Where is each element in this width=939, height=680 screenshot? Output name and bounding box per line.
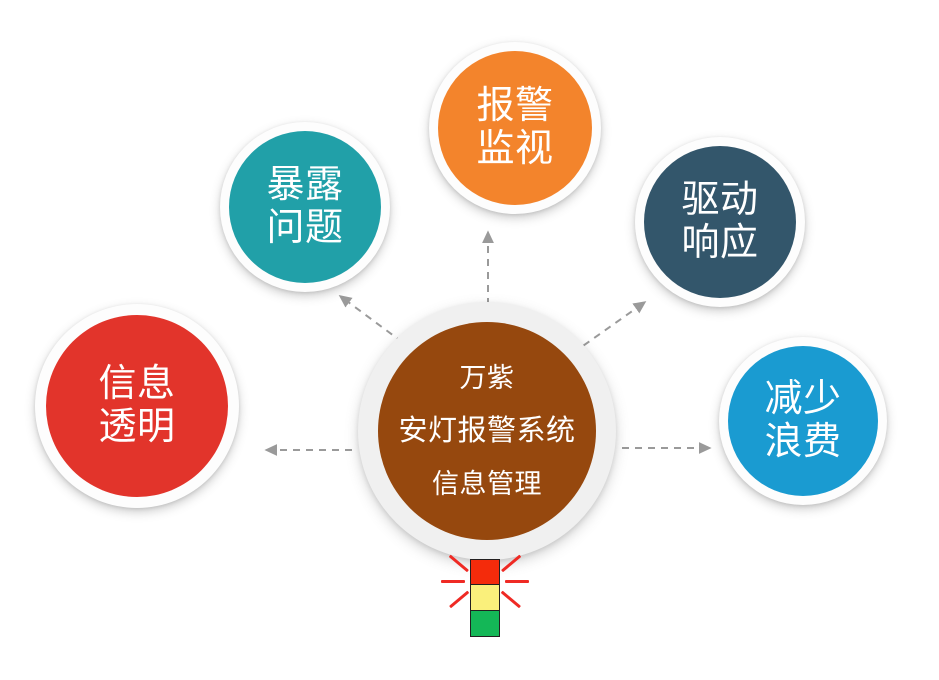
node-expose-problems[interactable]: 暴露 问题 [220, 122, 390, 292]
node-alarm-monitoring[interactable]: 报警 监视 [429, 42, 601, 214]
green-lamp [470, 610, 500, 637]
flash-ray-right-upper [501, 555, 521, 572]
andon-light-icon [425, 548, 545, 658]
node-drive-response[interactable]: 驱动 响应 [635, 137, 805, 307]
node-label-line2: 浪费 [764, 421, 841, 464]
node-reduce-waste[interactable]: 减少 浪费 [719, 337, 887, 505]
center-node[interactable]: 万紫 安灯报警系统 信息管理 [358, 302, 616, 560]
node-label-line1: 减少 [764, 378, 841, 421]
center-label-line1: 万紫 [460, 363, 515, 393]
node-label-line2: 问题 [266, 207, 343, 250]
node-information-transparency[interactable]: 信息 透明 [35, 304, 239, 508]
flash-ray-left-lower [449, 591, 469, 608]
center-label-line2: 安灯报警系统 [398, 415, 575, 447]
node-label-line2: 透明 [98, 406, 175, 449]
node-label-line1: 报警 [476, 85, 553, 128]
flash-ray-right-lower [501, 591, 521, 608]
lamp-stack [470, 560, 500, 637]
center-label-line3: 信息管理 [432, 469, 542, 499]
diagram-canvas: 报警 监视 暴露 问题 驱动 响应 信息 透明 减少 [0, 0, 939, 680]
red-lamp [470, 559, 500, 586]
node-label-line1: 暴露 [266, 164, 343, 207]
node-label-line1: 信息 [98, 363, 175, 406]
node-label-line2: 监视 [476, 128, 553, 171]
flash-ray-right-middle [505, 580, 529, 583]
flash-ray-left-middle [441, 580, 465, 583]
flash-ray-left-upper [449, 555, 469, 572]
node-label-line2: 响应 [681, 222, 758, 265]
yellow-lamp [470, 584, 500, 611]
node-label-line1: 驱动 [681, 179, 758, 222]
